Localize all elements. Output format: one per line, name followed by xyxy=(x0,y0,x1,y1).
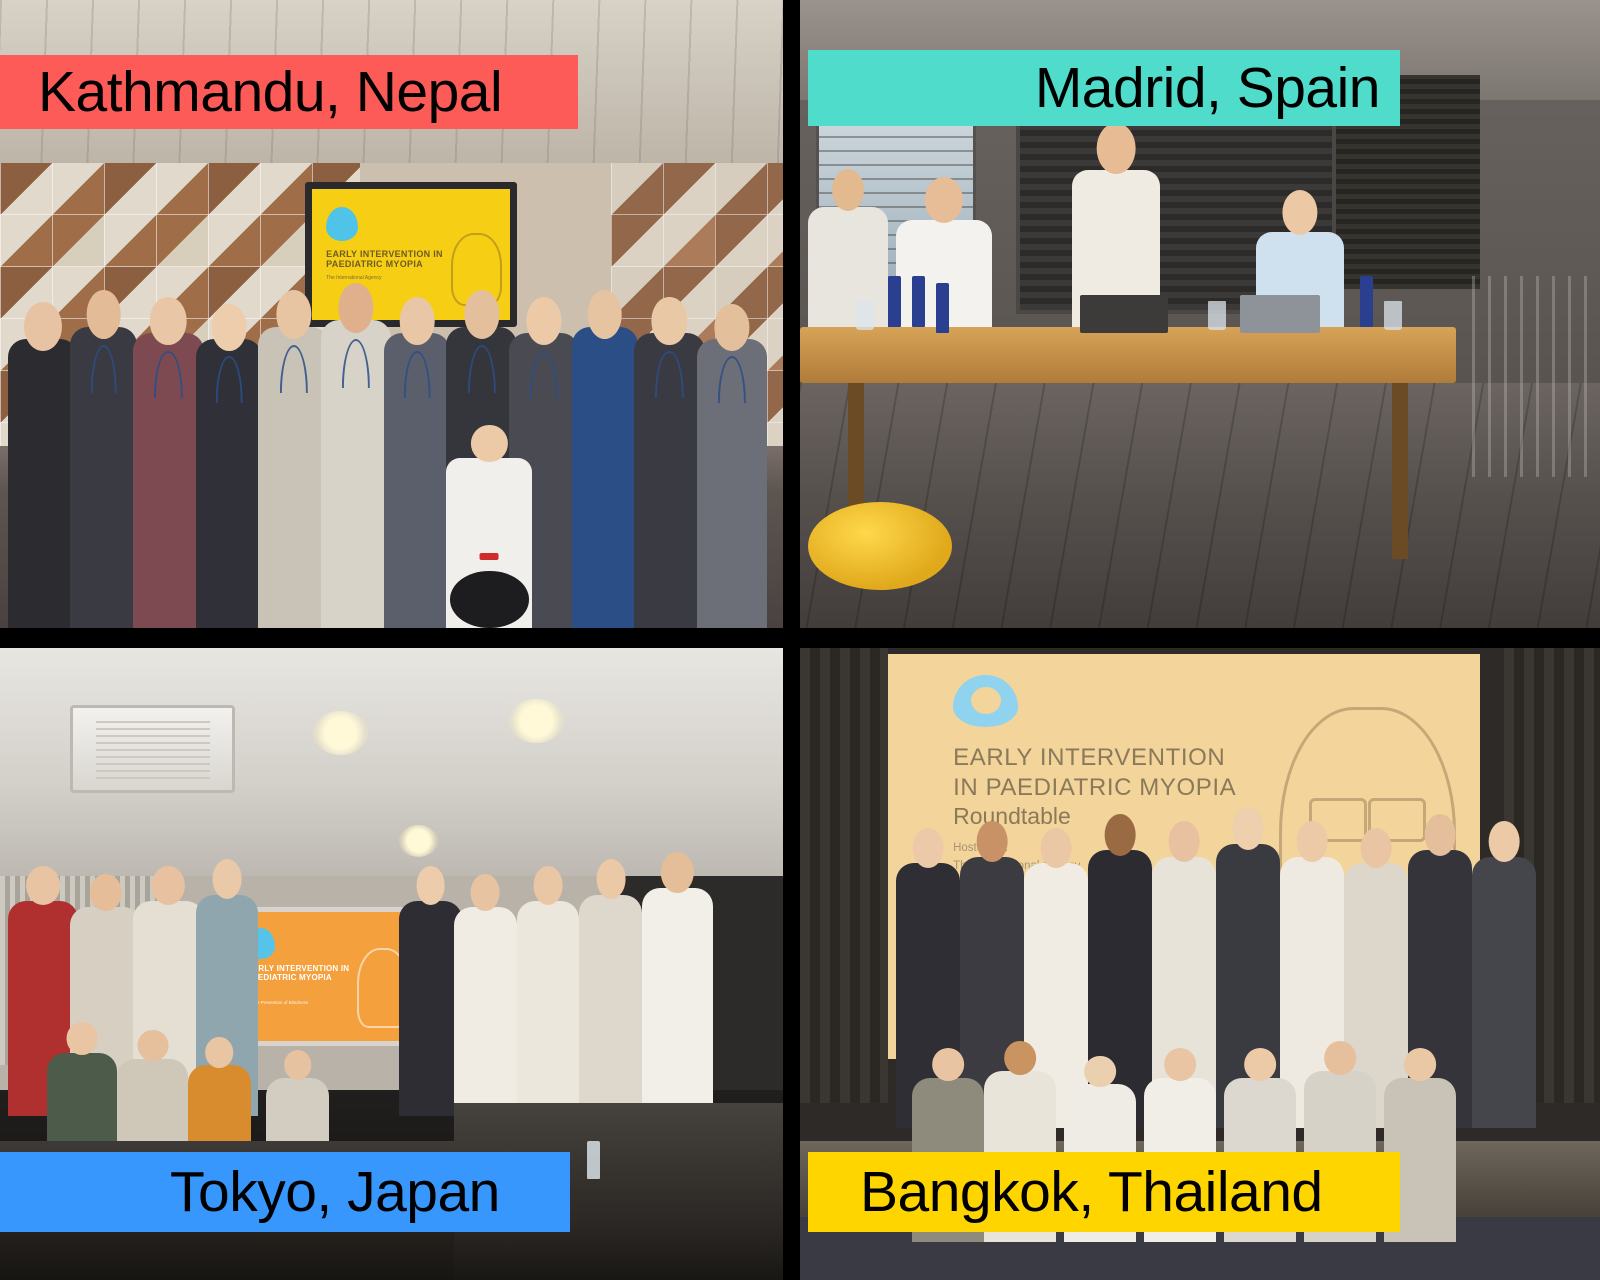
drinking-glass xyxy=(856,301,874,329)
water-bottle xyxy=(1360,276,1373,326)
laptop xyxy=(1240,295,1320,333)
yellow-side-table xyxy=(808,502,952,590)
panel-tokyo[interactable]: EARLY INTERVENTION IN PAEDIATRIC MYOPIA … xyxy=(0,648,783,1280)
laptop xyxy=(1080,295,1168,333)
water-bottle xyxy=(912,276,925,326)
caption-madrid: Madrid, Spain xyxy=(808,50,1400,126)
caption-tokyo: Tokyo, Japan xyxy=(0,1152,570,1232)
water-bottle xyxy=(587,1141,600,1179)
drinking-glass xyxy=(1384,301,1402,329)
drinking-glass xyxy=(1208,301,1226,329)
horizontal-divider xyxy=(0,628,1600,648)
water-bottle xyxy=(936,283,949,333)
panel-bangkok[interactable]: EARLY INTERVENTION IN PAEDIATRIC MYOPIA … xyxy=(800,648,1600,1280)
photo-collage: EARLY INTERVENTION IN PAEDIATRIC MYOPIA … xyxy=(0,0,1600,1280)
panel-madrid[interactable]: Madrid, Spain xyxy=(800,0,1600,628)
panel-kathmandu[interactable]: EARLY INTERVENTION IN PAEDIATRIC MYOPIA … xyxy=(0,0,783,628)
table-leg xyxy=(1392,383,1408,559)
panel-table xyxy=(800,327,1456,384)
caption-kathmandu: Kathmandu, Nepal xyxy=(0,55,578,129)
caption-bangkok: Bangkok, Thailand xyxy=(808,1152,1400,1232)
water-bottle xyxy=(888,276,901,326)
